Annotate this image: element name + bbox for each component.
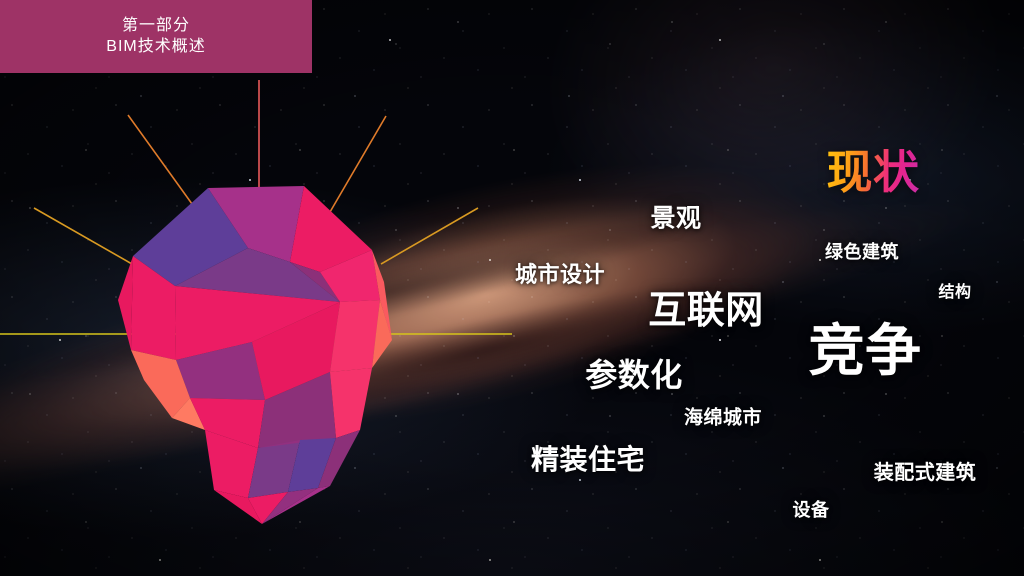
keyword-cloud: 现状景观绿色建筑结构城市设计互联网竞争参数化海绵城市精装住宅装配式建筑设备 — [0, 0, 1024, 576]
keyword-3: 绿色建筑 — [825, 243, 899, 261]
keyword-7: 竞争 — [809, 323, 922, 379]
section-title-line-1: 第一部分 — [122, 17, 190, 35]
presentation-slide: 现状景观绿色建筑结构城市设计互联网竞争参数化海绵城市精装住宅装配式建筑设备 第一… — [0, 0, 1024, 576]
keyword-9: 海绵城市 — [684, 409, 762, 428]
section-title-banner: 第一部分 BIM技术概述 — [0, 0, 312, 73]
keyword-12: 设备 — [793, 501, 830, 519]
section-title-line-2: BIM技术概述 — [106, 38, 205, 56]
keyword-2: 景观 — [650, 207, 701, 232]
keyword-4: 结构 — [938, 285, 971, 301]
keyword-8: 参数化 — [585, 359, 683, 391]
keyword-5: 城市设计 — [515, 264, 605, 286]
keyword-10: 精装住宅 — [531, 446, 645, 474]
keyword-6: 互联网 — [648, 292, 764, 330]
keyword-11: 装配式建筑 — [874, 463, 977, 483]
keyword-1: 现状 — [827, 149, 920, 195]
